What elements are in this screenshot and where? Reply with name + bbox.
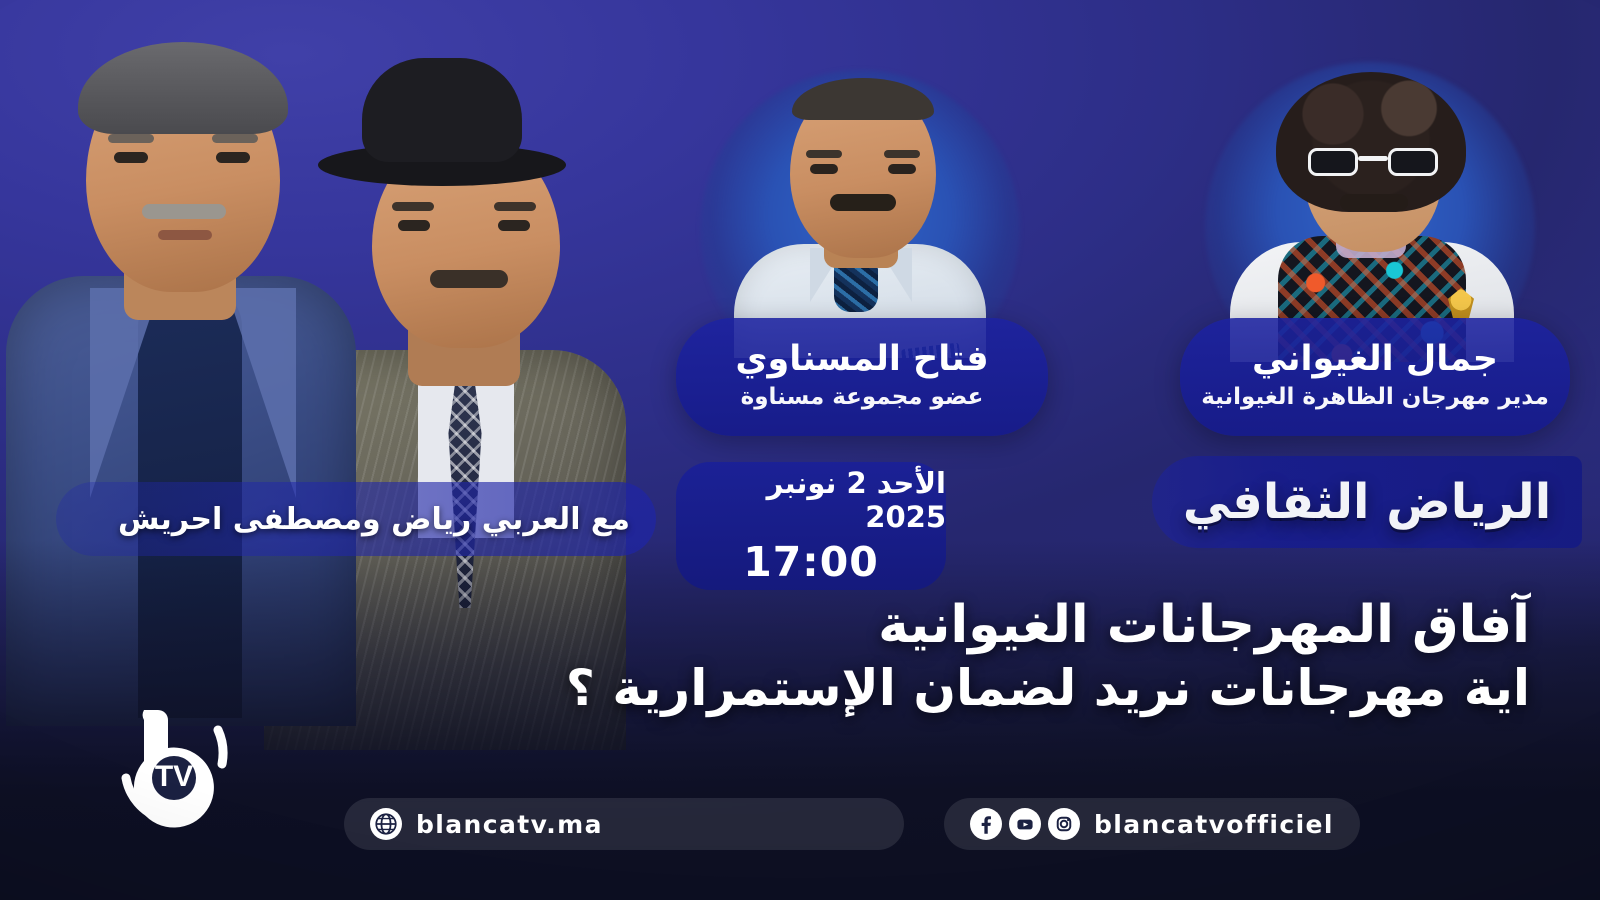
promo-poster: فتاح المسناوي عضو مجموعة مسناوة جمال الغ… — [0, 0, 1600, 900]
social-pill[interactable]: blancatvofficiel — [944, 798, 1360, 850]
globe-icon — [370, 808, 402, 840]
host-1-moustache — [142, 204, 226, 219]
guest-2-role: مدير مهرجان الظاهرة الغيوانية — [1201, 384, 1549, 410]
social-handle: blancatvofficiel — [1094, 810, 1334, 839]
broadcast-time: 17:00 — [743, 538, 879, 586]
host-1-lapel-right — [226, 288, 296, 498]
host-2-brow-left — [392, 202, 434, 211]
host-2-moustache — [430, 270, 508, 288]
guest-2-hair — [1276, 72, 1466, 212]
blanca-tv-logo: TV — [100, 690, 240, 830]
guest-1-name-card: فتاح المسناوي عضو مجموعة مسناوة — [676, 318, 1048, 436]
guest-2-name: جمال الغيواني — [1252, 340, 1498, 379]
guest-1-brow-left — [806, 150, 842, 158]
guest-2-photo — [1212, 52, 1532, 362]
guest-1-hair — [792, 78, 934, 120]
hosts-band: مع العربي رياض ومصطفى احريش — [56, 482, 656, 556]
guest-1-moustache — [830, 194, 896, 211]
host-1-hair — [78, 42, 288, 134]
hosts-line: مع العربي رياض ومصطفى احريش — [118, 502, 630, 537]
sunglass-bridge — [1358, 156, 1388, 161]
hat-crown — [362, 58, 522, 162]
guest-2-sunglasses — [1308, 144, 1438, 178]
host-1-mouth — [158, 230, 212, 240]
logo-tv-text: TV — [155, 760, 193, 793]
program-title: الرياض الثقافي — [1183, 474, 1551, 530]
host-2-hat — [318, 58, 566, 188]
guest-1-eye-right — [888, 164, 916, 174]
host-2-eye-right — [498, 220, 530, 231]
program-title-card: الرياض الثقافي — [1152, 456, 1582, 548]
host-1-eye-left — [114, 152, 148, 163]
guest-1-role: عضو مجموعة مسناوة — [741, 384, 984, 410]
guest-1-eye-left — [810, 164, 838, 174]
social-icon-row — [970, 808, 1080, 840]
headline-line-1: آفاق المهرجانات الغيوانية — [0, 596, 1530, 654]
sunglass-lens-right — [1388, 148, 1438, 176]
host-2-brow-right — [494, 202, 536, 211]
broadcast-date: الأحد 2 نونبر 2025 — [676, 466, 946, 534]
website-url: blancatv.ma — [416, 810, 603, 839]
website-pill[interactable]: blancatv.ma — [344, 798, 904, 850]
guest-2-name-card: جمال الغيواني مدير مهرجان الظاهرة الغيوا… — [1180, 318, 1570, 436]
guest-2-moustache — [1340, 194, 1408, 211]
guest-1-name: فتاح المسناوي — [735, 340, 988, 379]
host-1-brow-right — [212, 134, 258, 143]
instagram-icon[interactable] — [1048, 808, 1080, 840]
host-1-eye-right — [216, 152, 250, 163]
facebook-icon[interactable] — [970, 808, 1002, 840]
guest-1-brow-right — [884, 150, 920, 158]
host-2-eye-left — [398, 220, 430, 231]
sunglass-lens-left — [1308, 148, 1358, 176]
guest-1-photo — [706, 58, 1016, 358]
youtube-icon[interactable] — [1009, 808, 1041, 840]
schedule-card: الأحد 2 نونبر 2025 17:00 — [676, 462, 946, 590]
host-1-brow-left — [108, 134, 154, 143]
